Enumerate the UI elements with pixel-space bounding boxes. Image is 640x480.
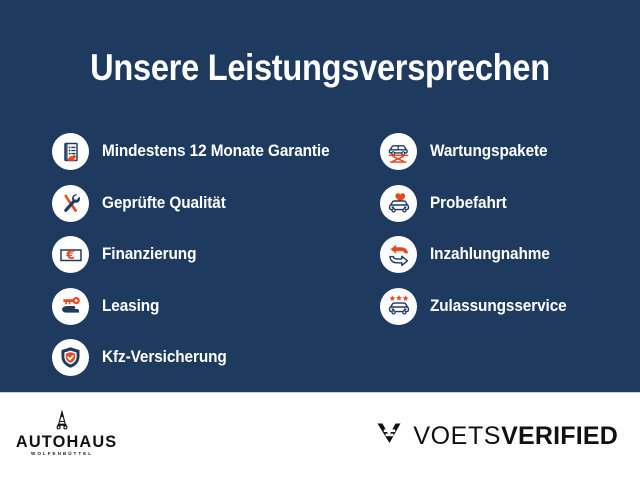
benefit-item-inzahlungnahme[interactable]: Inzahlungnahme (380, 229, 630, 281)
svg-text:€: € (65, 247, 75, 262)
benefit-item-gepruefte-qualitaet[interactable]: Geprüfte Qualität (52, 178, 382, 230)
benefit-label: Inzahlungnahme (430, 245, 550, 264)
benefit-item-kfz-versicherung[interactable]: Kfz-Versicherung (52, 332, 382, 384)
certificate-document-icon (52, 133, 89, 170)
autohaus-monument-icon (14, 410, 110, 432)
voets-name: VOETS (413, 422, 501, 450)
car-on-lift-icon (380, 133, 417, 170)
benefits-right-column: Wartungspakete (380, 126, 630, 332)
benefit-item-zulassungsservice[interactable]: Zulassungsservice (380, 281, 630, 333)
autohaus-wordmark: AUTOHAUS (16, 433, 108, 450)
voets-v-chevron-icon (374, 418, 404, 453)
benefit-label: Finanzierung (102, 245, 196, 264)
benefit-label: Wartungspakete (430, 142, 548, 161)
voets-verified-logo[interactable]: VOETSVERIFIED (374, 418, 618, 453)
verified-name: VERIFIED (501, 422, 618, 450)
footer-divider (0, 392, 640, 393)
benefit-item-leasing[interactable]: Leasing (52, 281, 382, 333)
car-three-stars-icon (380, 288, 417, 325)
benefit-item-probefahrt[interactable]: Probefahrt (380, 178, 630, 230)
benefit-label: Probefahrt (430, 194, 507, 213)
shield-check-icon (52, 339, 89, 376)
benefit-label: Leasing (102, 297, 159, 316)
car-heart-icon (380, 185, 417, 222)
benefit-label: Zulassungsservice (430, 297, 567, 316)
autohaus-logo[interactable]: AUTOHAUS WOLFENBÜTTEL (14, 410, 110, 457)
page-title: Unsere Leistungsversprechen (38, 47, 601, 89)
voets-verified-wordmark: VOETSVERIFIED (413, 423, 618, 449)
promo-graphic: Unsere Leistungsversprechen (0, 0, 640, 480)
euro-banknote-icon: € (52, 236, 89, 273)
exchange-arrows-icon (380, 236, 417, 273)
benefit-item-wartungspakete[interactable]: Wartungspakete (380, 126, 630, 178)
wrench-screwdriver-icon (52, 185, 89, 222)
benefit-label: Kfz-Versicherung (102, 348, 227, 367)
autohaus-location: WOLFENBÜTTEL (14, 450, 110, 457)
benefits-left-column: Mindestens 12 Monate Garantie Geprüfte (52, 126, 382, 384)
hero-panel: Unsere Leistungsversprechen (0, 0, 640, 392)
footer-bar: AUTOHAUS WOLFENBÜTTEL VOETSVERIFIED (0, 392, 640, 480)
benefit-label: Mindestens 12 Monate Garantie (102, 142, 330, 161)
benefit-label: Geprüfte Qualität (102, 194, 226, 213)
benefit-item-garantie[interactable]: Mindestens 12 Monate Garantie (52, 126, 382, 178)
key-in-hand-icon (52, 288, 89, 325)
benefit-item-finanzierung[interactable]: € Finanzierung (52, 229, 382, 281)
